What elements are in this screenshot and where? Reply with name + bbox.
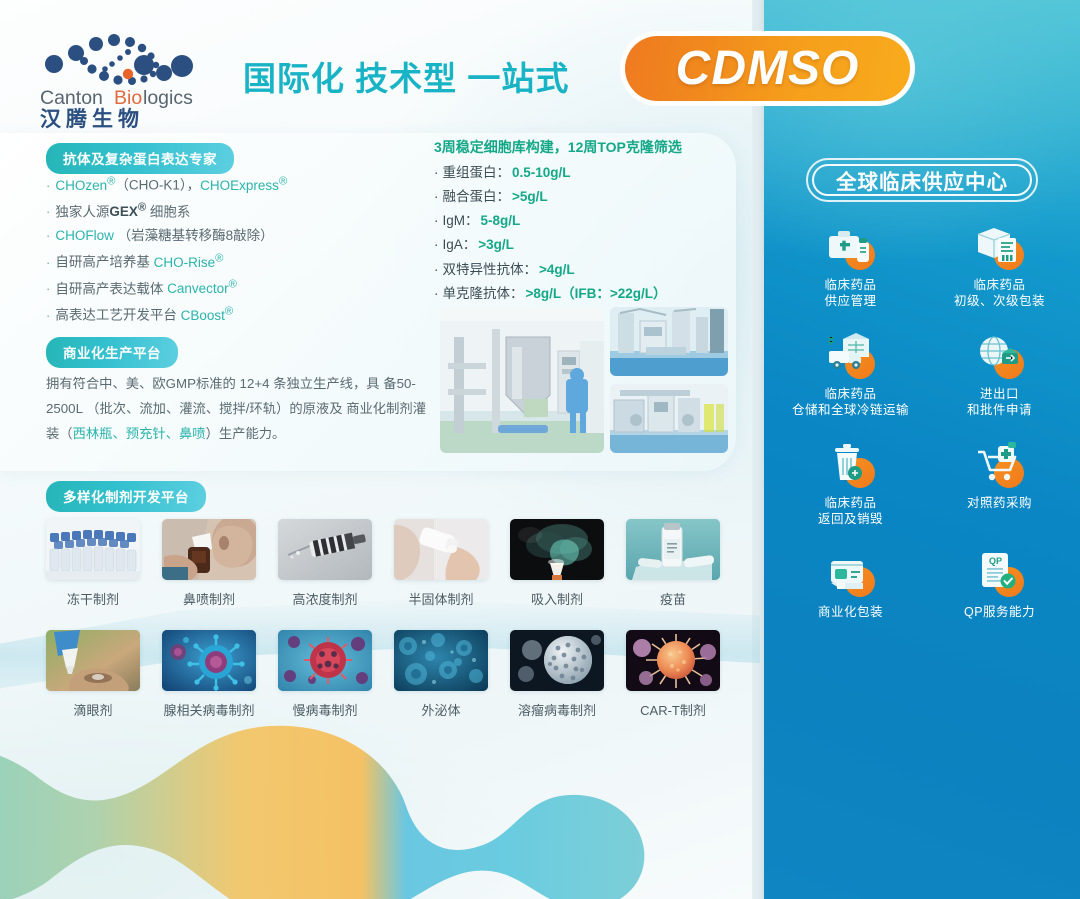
- paragraph-line-3b: ）生产能力。: [206, 426, 286, 441]
- service-label: 对照药采购: [967, 495, 1032, 511]
- filling-line-photo: [610, 384, 728, 453]
- bullet-dot: ·: [46, 229, 50, 242]
- bullet-dot: ·: [434, 262, 439, 278]
- svg-text:logics: logics: [143, 87, 193, 109]
- purification-skid-photo: [610, 307, 728, 376]
- formulation-label: 疫苗: [626, 589, 720, 608]
- section-label-antibody: 抗体及复杂蛋白表达专家: [46, 143, 234, 174]
- service-item[interactable]: 对照药采购: [929, 440, 1070, 527]
- bullet-dot: ·: [46, 205, 50, 218]
- formulation-label: CAR-T制剂: [610, 700, 736, 719]
- formulation-tile: 吸入制剂: [510, 519, 604, 608]
- molecule-blob-decoration: [0, 690, 660, 899]
- titer-spec-list: 3周稳定细胞库构建，12周TOP克隆筛选 · 重组蛋白： 0.5-10g/L ·…: [434, 139, 734, 310]
- spec-row: · 融合蛋白： >5g/L: [434, 189, 734, 205]
- formulation-tile: 滴眼剂: [46, 630, 140, 719]
- formulation-label: 鼻喷制剂: [162, 589, 256, 608]
- service-item[interactable]: 进出口和批件申请: [929, 331, 1070, 418]
- bullet-dot: ·: [434, 237, 439, 253]
- facility-photo-group: [440, 307, 728, 453]
- inhalation-photo: [510, 519, 604, 580]
- formulation-label: 慢病毒制剂: [262, 700, 388, 719]
- bullet-dot: ·: [46, 282, 50, 295]
- car-t-cell-photo: [626, 630, 720, 691]
- oncolytic-virus-photo: [510, 630, 604, 691]
- formulation-row-2: 滴眼剂: [46, 630, 746, 719]
- cdmso-badge: CDMSO: [620, 31, 915, 106]
- list-item: · 自研高产表达载体 Canvector®: [46, 280, 426, 296]
- service-label: 临床药品供应管理: [824, 277, 876, 309]
- formulation-label: 腺相关病毒制剂: [146, 700, 272, 719]
- svg-text:Bio: Bio: [114, 87, 142, 109]
- vaccine-vial-photo: [626, 519, 720, 580]
- exosome-photo: [394, 630, 488, 691]
- brochure-page: Canton Bio logics 汉腾生物 国际化 技术型 一站式 CDMSO…: [0, 0, 1080, 899]
- service-item[interactable]: 临床药品供应管理: [780, 222, 921, 309]
- spec-row: · IgA： >3g/L: [434, 237, 734, 253]
- spec-row: · IgM： 5-8g/L: [434, 213, 734, 229]
- section-label-commercial: 商业化生产平台: [46, 337, 178, 368]
- formulation-label: 冻干制剂: [46, 589, 140, 608]
- cdmso-badge-label: CDMSO: [676, 45, 860, 93]
- service-label: 进出口和批件申请: [967, 386, 1032, 418]
- service-item[interactable]: 临床药品仓储和全球冷链运输: [780, 331, 921, 418]
- section-label-formulation: 多样化制剂开发平台: [46, 481, 206, 512]
- service-label: 临床药品返回及销毁: [818, 495, 883, 527]
- formulation-label: 外泌体: [394, 700, 488, 719]
- syringe-photo: [278, 519, 372, 580]
- right-panel-title-label: 全球临床供应中心: [836, 165, 1008, 195]
- company-logo: Canton Bio logics 汉腾生物: [32, 24, 217, 129]
- packaging-boxes-icon: [972, 222, 1028, 270]
- bullet-dot: ·: [434, 165, 439, 181]
- formulation-tile: 冻干制剂: [46, 519, 140, 608]
- spec-row: · 双特异性抗体： >4g/L: [434, 262, 734, 278]
- bullet-dot: ·: [434, 189, 439, 205]
- service-label: 商业化包装: [818, 604, 883, 620]
- formulation-tile: 溶瘤病毒制剂: [510, 630, 604, 719]
- paragraph-highlight: 西林瓶、预充针、鼻喷: [73, 426, 206, 441]
- semisolid-cream-photo: [394, 519, 488, 580]
- service-item[interactable]: 商业化包装: [780, 549, 921, 620]
- formulation-label: 吸入制剂: [510, 589, 604, 608]
- formulation-label: 滴眼剂: [46, 700, 140, 719]
- spec-row: · 重组蛋白： 0.5-10g/L: [434, 165, 734, 181]
- cold-chain-truck-icon: [823, 331, 879, 379]
- svg-text:QP: QP: [989, 556, 1002, 566]
- formulation-row-1: 冻干制剂 鼻喷: [46, 519, 746, 608]
- service-label: 临床药品仓储和全球冷链运输: [792, 386, 909, 418]
- globe-import-export-icon: [972, 331, 1028, 379]
- shopping-cart-icon: [972, 440, 1028, 488]
- service-item[interactable]: 临床药品返回及销毁: [780, 440, 921, 527]
- formulation-tile: 慢病毒制剂: [278, 630, 372, 719]
- formulation-label: 半固体制剂: [394, 589, 488, 608]
- bullet-dot: ·: [434, 213, 439, 229]
- antibody-bullet-list: · CHOzen®（CHO-K1），CHOExpress® · 独家人源GEX®…: [46, 176, 426, 333]
- qp-certificate-icon: QP: [972, 549, 1028, 597]
- spec-row: · 单克隆抗体： >8g/L（IFB：>22g/L）: [434, 286, 734, 302]
- bullet-dot: ·: [434, 286, 439, 302]
- formulation-tile: 疫苗: [626, 519, 720, 608]
- formulation-tile: 高浓度制剂: [278, 519, 372, 608]
- destruction-bin-icon: [823, 440, 879, 488]
- list-item: · CHOzen®（CHO-K1），CHOExpress®: [46, 176, 426, 192]
- lyophilized-vials-photo: [46, 519, 140, 580]
- service-item[interactable]: 临床药品初级、次级包装: [929, 222, 1070, 309]
- list-item: · 高表达工艺开发平台 CBoost®: [46, 306, 426, 322]
- service-label: 临床药品初级、次级包装: [954, 277, 1045, 309]
- commercial-package-icon: [823, 549, 879, 597]
- nasal-spray-photo: [162, 519, 256, 580]
- formulation-label: 溶瘤病毒制剂: [494, 700, 620, 719]
- service-label: QP服务能力: [964, 604, 1035, 620]
- formulation-tile: 腺相关病毒制剂: [162, 630, 256, 719]
- aav-virus-photo: [162, 630, 256, 691]
- formulation-tile: CAR-T制剂: [626, 630, 720, 719]
- formulation-label: 高浓度制剂: [278, 589, 372, 608]
- formulation-tile-grid: 冻干制剂 鼻喷: [46, 519, 746, 719]
- svg-text:汉腾生物: 汉腾生物: [40, 107, 144, 129]
- bullet-dot: ·: [46, 309, 50, 322]
- paragraph-line-1: 拥有符合中、美、欧GMP标准的 12+4 条独立生产线，具: [46, 376, 380, 391]
- medical-kit-icon: [823, 222, 879, 270]
- svg-text:Canton: Canton: [40, 87, 103, 109]
- global-clinical-supply-title: 全球临床供应中心: [806, 158, 1038, 202]
- bullet-dot: ·: [46, 256, 50, 269]
- bullet-dot: ·: [46, 179, 50, 192]
- list-item: · CHOFlow （岩藻糖基转移酶8敲除）: [46, 229, 426, 243]
- bioreactor-suite-photo: [440, 307, 604, 453]
- clinical-service-grid: 临床药品供应管理 临床药品初级、次级包装: [780, 222, 1070, 620]
- eye-drop-photo: [46, 630, 140, 691]
- formulation-tile: 鼻喷制剂: [162, 519, 256, 608]
- list-item: · 自研高产培养基 CHO-Rise®: [46, 253, 426, 269]
- commercial-paragraph: 拥有符合中、美、欧GMP标准的 12+4 条独立生产线，具 备50-2500L …: [46, 371, 438, 446]
- lentivirus-photo: [278, 630, 372, 691]
- spec-title: 3周稳定细胞库构建，12周TOP克隆筛选: [434, 139, 734, 156]
- formulation-tile: 半固体制剂: [394, 519, 488, 608]
- formulation-tile: 外泌体: [394, 630, 488, 719]
- service-item[interactable]: QP QP服务能力: [929, 549, 1070, 620]
- list-item: · 独家人源GEX® 细胞系: [46, 203, 426, 219]
- page-headline: 国际化 技术型 一站式: [243, 52, 569, 100]
